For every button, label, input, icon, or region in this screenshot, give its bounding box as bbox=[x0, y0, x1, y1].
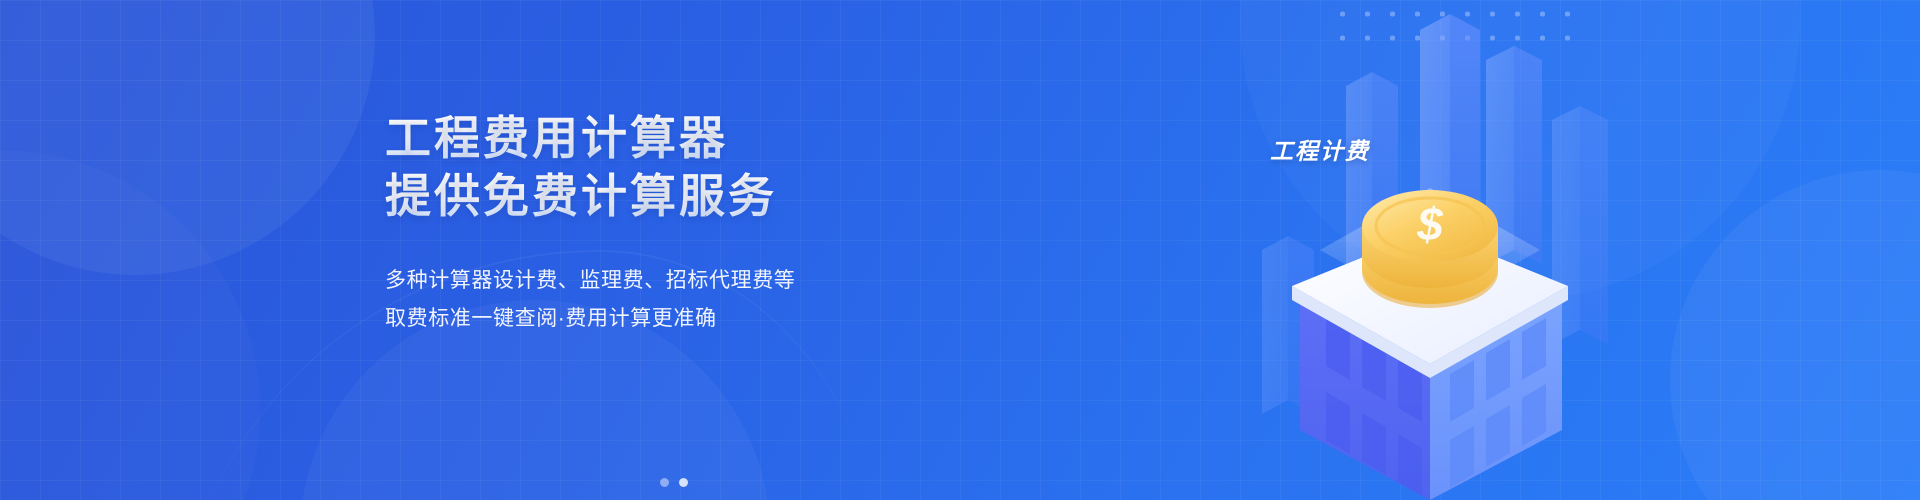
decorative-circle-top-left bbox=[0, 0, 375, 275]
hero-illustration: $ 工程计费 bbox=[1150, 0, 1710, 500]
carousel-dot-1[interactable] bbox=[660, 478, 669, 487]
hero-headline-line2: 提供免费计算服务 bbox=[385, 168, 945, 224]
decorative-circle-left-mid bbox=[0, 150, 260, 500]
hero-subtitle-line1: 多种计算器设计费、监理费、招标代理费等 bbox=[385, 262, 945, 300]
hero-text-block: 工程费用计算器 提供免费计算服务 多种计算器设计费、监理费、招标代理费等 取费标… bbox=[385, 110, 945, 338]
hero-banner: 工程费用计算器 提供免费计算服务 多种计算器设计费、监理费、招标代理费等 取费标… bbox=[0, 0, 1920, 500]
hero-subtitle-line2: 取费标准一键查阅·费用计算更准确 bbox=[385, 300, 945, 338]
carousel-dots[interactable] bbox=[660, 478, 688, 487]
illustration-badge-label: 工程计费 bbox=[1270, 132, 1370, 166]
carousel-dot-2[interactable] bbox=[679, 478, 688, 487]
gold-coin-stack-icon: $ bbox=[1362, 190, 1498, 308]
coin-dollar-symbol: $ bbox=[1416, 198, 1443, 250]
hero-headline-line1: 工程费用计算器 bbox=[385, 110, 945, 166]
